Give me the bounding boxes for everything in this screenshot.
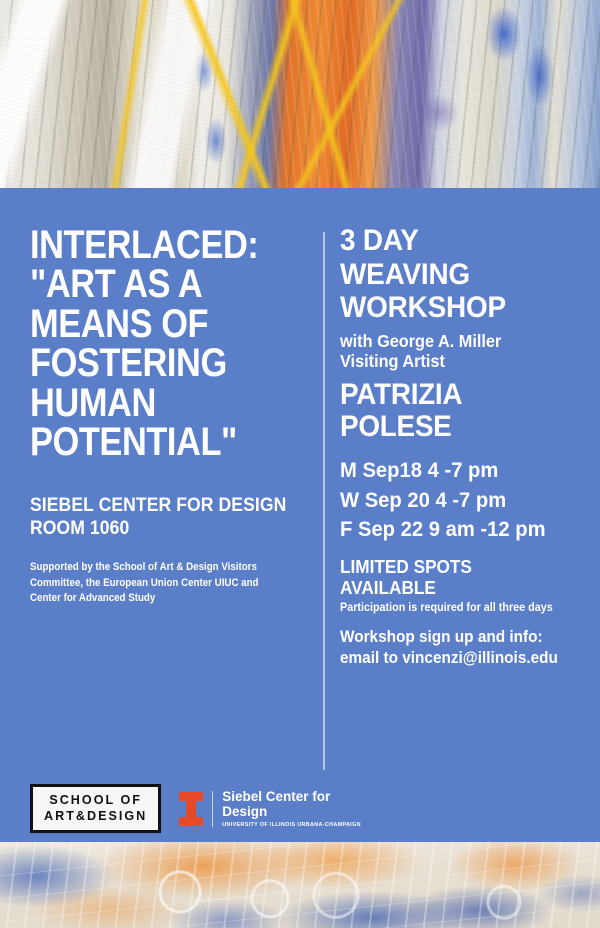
poster-headline: INTERLACED: "ART AS A MEANS OF FOSTERING… [30,226,275,462]
poster-body: INTERLACED: "ART AS A MEANS OF FOSTERING… [0,188,600,842]
artwork-texture-layer [0,0,600,188]
left-column: INTERLACED: "ART AS A MEANS OF FOSTERING… [30,188,315,606]
workshop-host: with George A. Miller Visiting Artist [340,331,573,372]
siebel-logo-university: UNIVERSITY OF ILLINOIS URBANA-CHAMPAIGN [222,823,361,828]
siebel-center-logo: Siebel Center for Design UNIVERSITY OF I… [179,789,361,828]
sad-logo-line1: SCHOOL OF [44,794,147,807]
workshop-schedule: M Sep18 4 -7 pm W Sep 20 4 -7 pm F Sep 2… [340,456,575,544]
logo-separator [212,791,213,827]
artist-name: PATRIZIA POLESE [340,379,573,442]
siebel-logo-name: Siebel Center for Design [222,789,361,819]
school-of-art-design-logo: SCHOOL OF ART&DESIGN [30,784,161,833]
signup-info: Workshop sign up and info: email to vinc… [340,627,573,668]
watercolor-swirls-layer [0,842,600,928]
poster: INTERLACED: "ART AS A MEANS OF FOSTERING… [0,0,600,928]
venue-location: SIEBEL CENTER FOR DESIGN ROOM 1060 [30,494,287,540]
workshop-kicker: 3 DAY WEAVING WORKSHOP [340,224,573,325]
bottom-artwork-image [0,842,600,928]
participation-note: Participation is required for all three … [340,601,573,615]
block-i-icon [179,792,203,826]
limited-spots-notice: LIMITED SPOTS AVAILABLE [340,557,573,598]
support-credits: Supported by the School of Art & Design … [30,560,292,606]
siebel-logo-text: Siebel Center for Design UNIVERSITY OF I… [222,789,361,828]
sad-logo-line2: ART&DESIGN [44,810,147,823]
right-column: 3 DAY WEAVING WORKSHOP with George A. Mi… [340,188,590,669]
column-divider [323,232,325,770]
logo-row: SCHOOL OF ART&DESIGN Siebel Center for D… [30,784,361,833]
top-artwork-image [0,0,600,188]
